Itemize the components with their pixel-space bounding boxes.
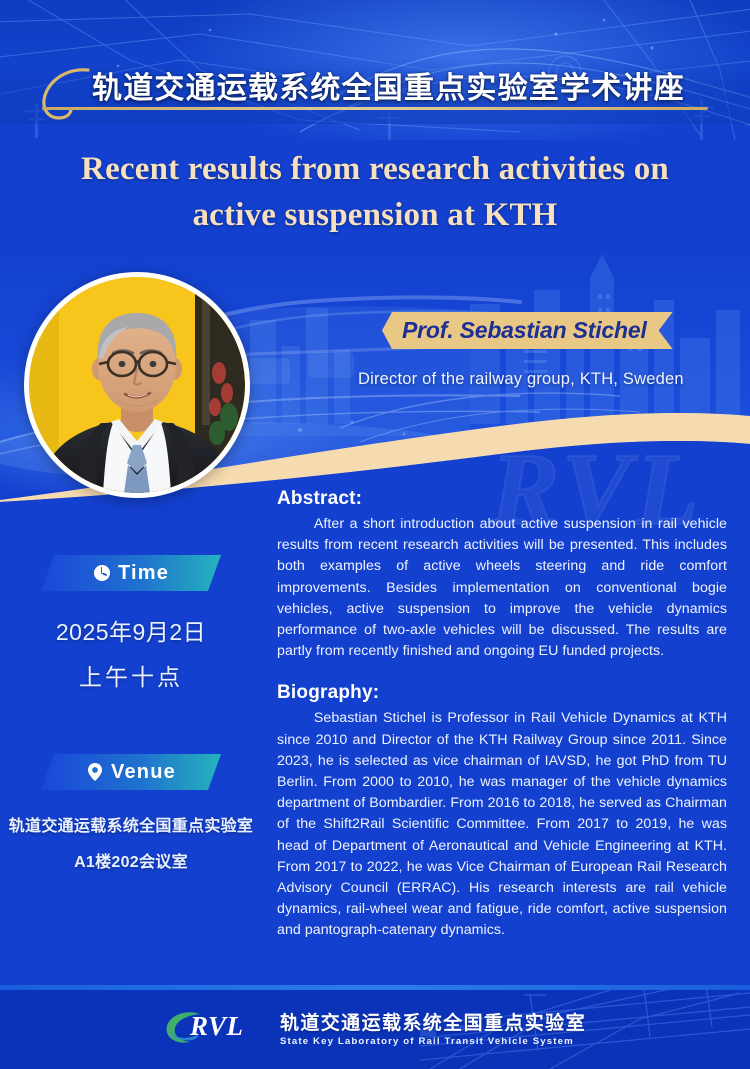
rvl-logo: RVL <box>164 1007 268 1047</box>
venue-badge-label: Venue <box>111 761 176 784</box>
biography-body: Sebastian Stichel is Professor in Rail V… <box>277 708 727 941</box>
venue-badge: Venue <box>41 754 221 790</box>
speaker-name-ribbon: Prof. Sebastian Stichel <box>382 312 673 349</box>
speaker-name: Prof. Sebastian Stichel <box>402 317 647 344</box>
venue-line1: 轨道交通运载系统全国重点实验室 <box>0 812 262 836</box>
map-pin-icon <box>86 762 104 782</box>
avatar <box>24 272 250 498</box>
footer-name-cn: 轨道交通运载系统全国重点实验室 <box>280 1008 586 1035</box>
car-outline-icon <box>40 64 94 122</box>
time-badge-label: Time <box>118 562 169 585</box>
rvl-logo-text: RVL <box>190 1011 244 1042</box>
footer-bar: RVL 轨道交通运载系统全国重点实验室 State Key Laboratory… <box>0 985 750 1069</box>
footer-name-en: State Key Laboratory of Rail Transit Veh… <box>280 1036 586 1047</box>
event-hour: 上午十点 <box>0 658 262 692</box>
header-bar: 轨道交通运载系统全国重点实验室学术讲座 <box>0 58 750 124</box>
event-date: 2025年9月2日 <box>0 613 262 647</box>
venue-line2: A1楼202会议室 <box>0 848 262 872</box>
speaker-portrait <box>29 277 245 493</box>
page-title-line2: active suspension at KTH <box>40 192 710 238</box>
abstract-body: After a short introduction about active … <box>277 514 727 662</box>
abstract-heading: Abstract: <box>277 488 727 510</box>
event-details-column: Time 2025年9月2日 上午十点 Venue 轨道交通运载系统全国重点实验… <box>0 555 262 872</box>
time-badge: Time <box>41 555 221 591</box>
header-title-cn: 轨道交通运载系统全国重点实验室学术讲座 <box>92 63 685 107</box>
content-column: Abstract: After a short introduction abo… <box>277 488 727 942</box>
clock-icon <box>93 564 111 582</box>
page-title-line1: Recent results from research activities … <box>40 146 710 192</box>
biography-heading: Biography: <box>277 682 727 704</box>
header-gold-rule <box>42 107 708 110</box>
speaker-role: Director of the railway group, KTH, Swed… <box>358 370 684 389</box>
seminar-poster: 轨道交通运载系统全国重点实验室学术讲座 Recent results from … <box>0 0 750 1069</box>
page-title: Recent results from research activities … <box>40 146 710 238</box>
